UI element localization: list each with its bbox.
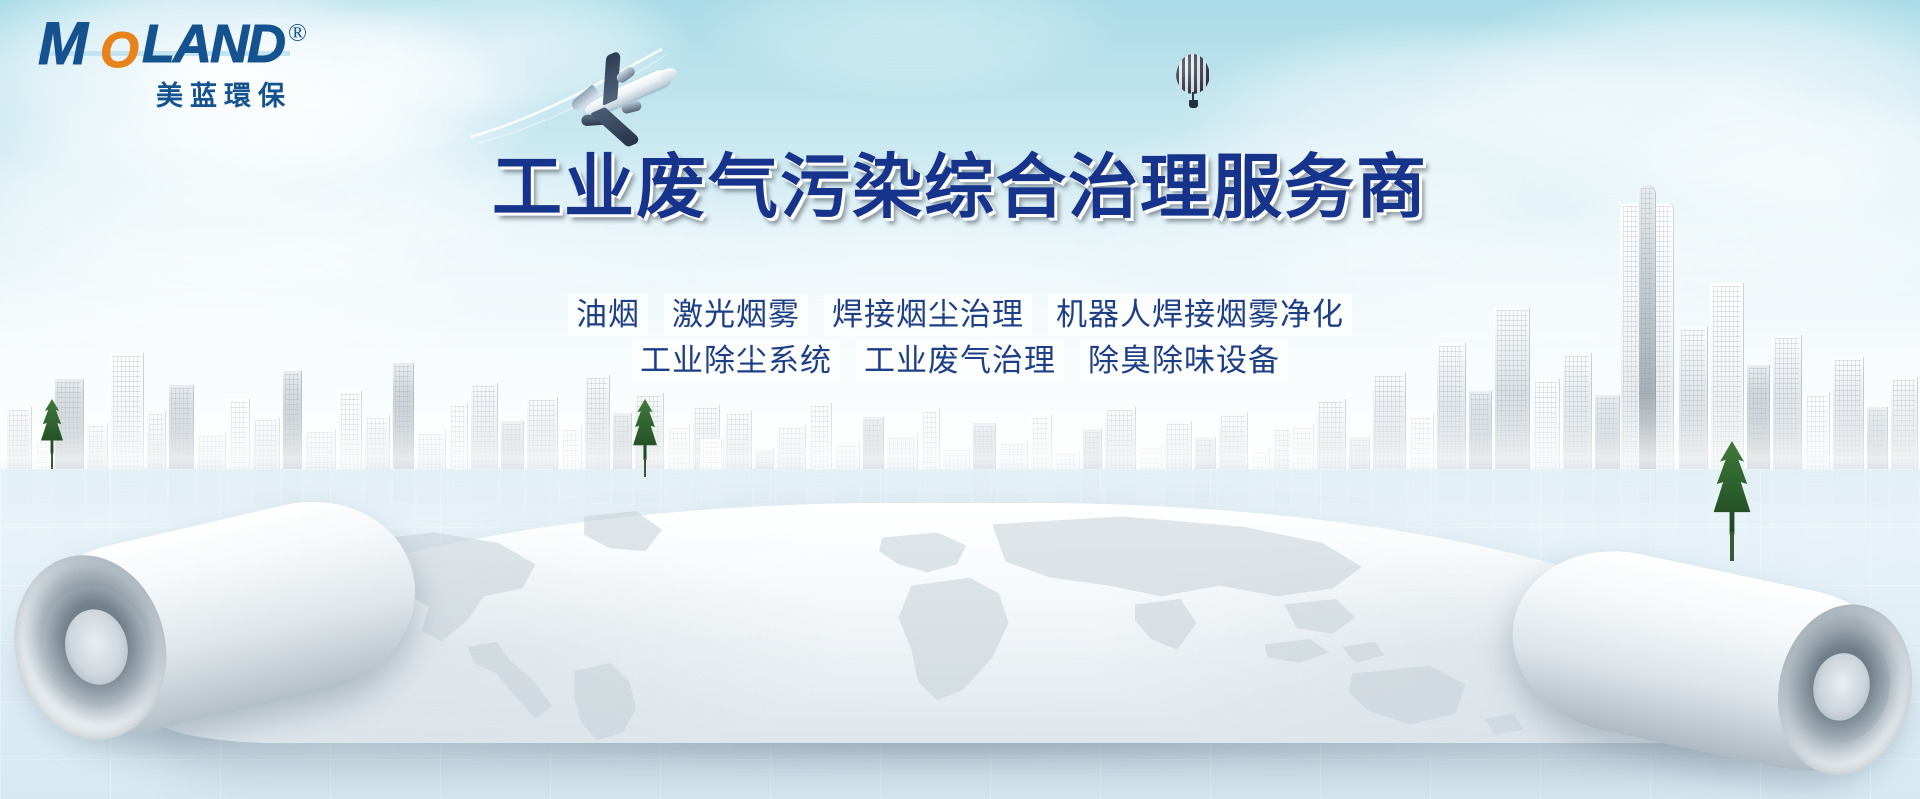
brand-logo[interactable]: M O LAND ® 美蓝環保 xyxy=(38,18,338,108)
logo-chinese-name: 美蓝環保 xyxy=(156,74,292,113)
service-tag: 激光烟雾 xyxy=(664,294,808,336)
service-tag-row-2: 工业除尘系统工业废气治理除臭除味设备 xyxy=(0,340,1920,382)
service-tag: 工业废气治理 xyxy=(856,340,1064,382)
logo-letter-o: O xyxy=(100,24,137,76)
page-title: 工业废气污染综合治理服务商 xyxy=(0,150,1920,224)
service-tag-row-1: 油烟激光烟雾焊接烟尘治理机器人焊接烟雾净化 xyxy=(0,294,1920,336)
registered-trademark-icon: ® xyxy=(288,20,307,48)
logo-letter-m: M xyxy=(38,18,86,70)
service-tag: 油烟 xyxy=(568,294,648,336)
hero-banner: M O LAND ® 美蓝環保 工业废气污染综合治理服务商 油烟激光烟雾焊接烟尘… xyxy=(0,0,1920,799)
logo-wordmark: M O LAND ® xyxy=(38,18,300,70)
airplane-icon xyxy=(470,25,790,145)
service-tag: 工业除尘系统 xyxy=(632,340,840,382)
service-tag: 除臭除味设备 xyxy=(1080,340,1288,382)
logo-letters-land: LAND xyxy=(142,18,284,70)
paper-roll-scene xyxy=(0,379,1920,799)
service-tag: 焊接烟尘治理 xyxy=(824,294,1032,336)
service-tag: 机器人焊接烟雾净化 xyxy=(1048,294,1352,336)
hot-air-balloon-icon xyxy=(1176,54,1210,110)
